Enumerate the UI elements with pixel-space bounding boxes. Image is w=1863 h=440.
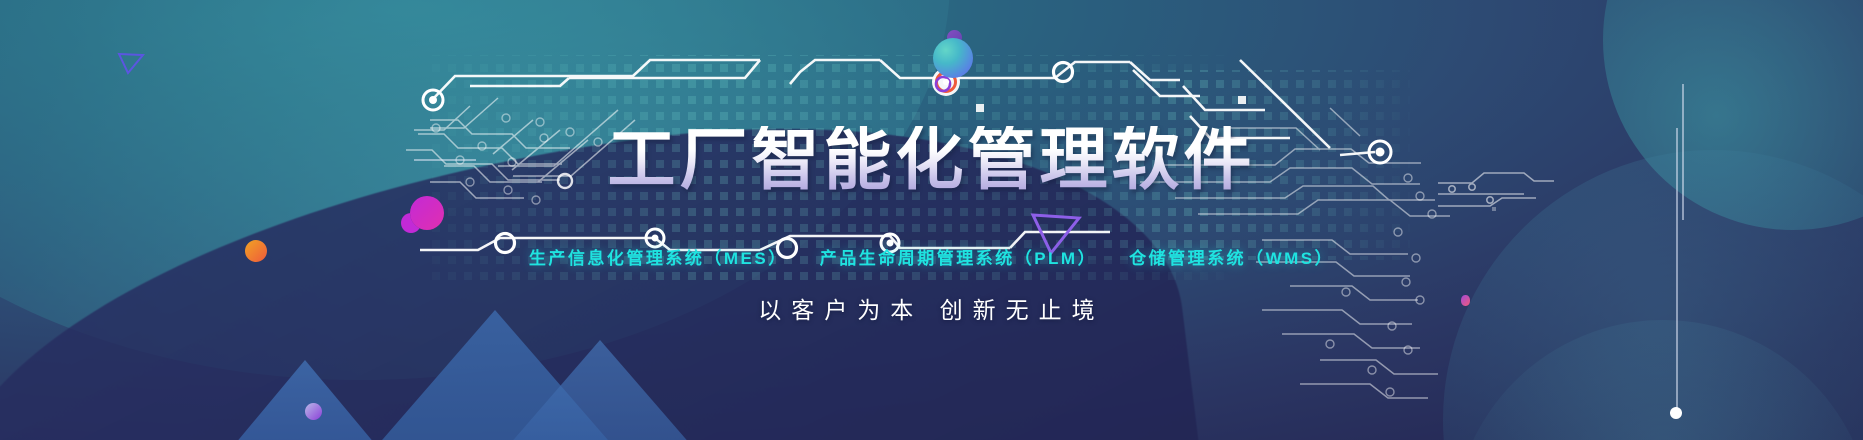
system-item-mes: 生产信息化管理系统（MES） — [529, 244, 788, 269]
system-item-wms: 仓储管理系统（WMS） — [1129, 244, 1334, 269]
tagline: 以客户为本 创新无止境 — [758, 291, 1104, 325]
system-list: 生产信息化管理系统（MES） 产品生命周期管理系统（PLM） 仓储管理系统（WM… — [529, 244, 1334, 269]
page-title: 工厂智能化管理软件 — [607, 126, 1255, 194]
banner-content: 工厂智能化管理软件 生产信息化管理系统（MES） 产品生命周期管理系统（PLM）… — [0, 0, 1863, 440]
hero-banner: 工厂智能化管理软件 生产信息化管理系统（MES） 产品生命周期管理系统（PLM）… — [0, 0, 1863, 440]
system-item-plm: 产品生命周期管理系统（PLM） — [820, 244, 1097, 269]
